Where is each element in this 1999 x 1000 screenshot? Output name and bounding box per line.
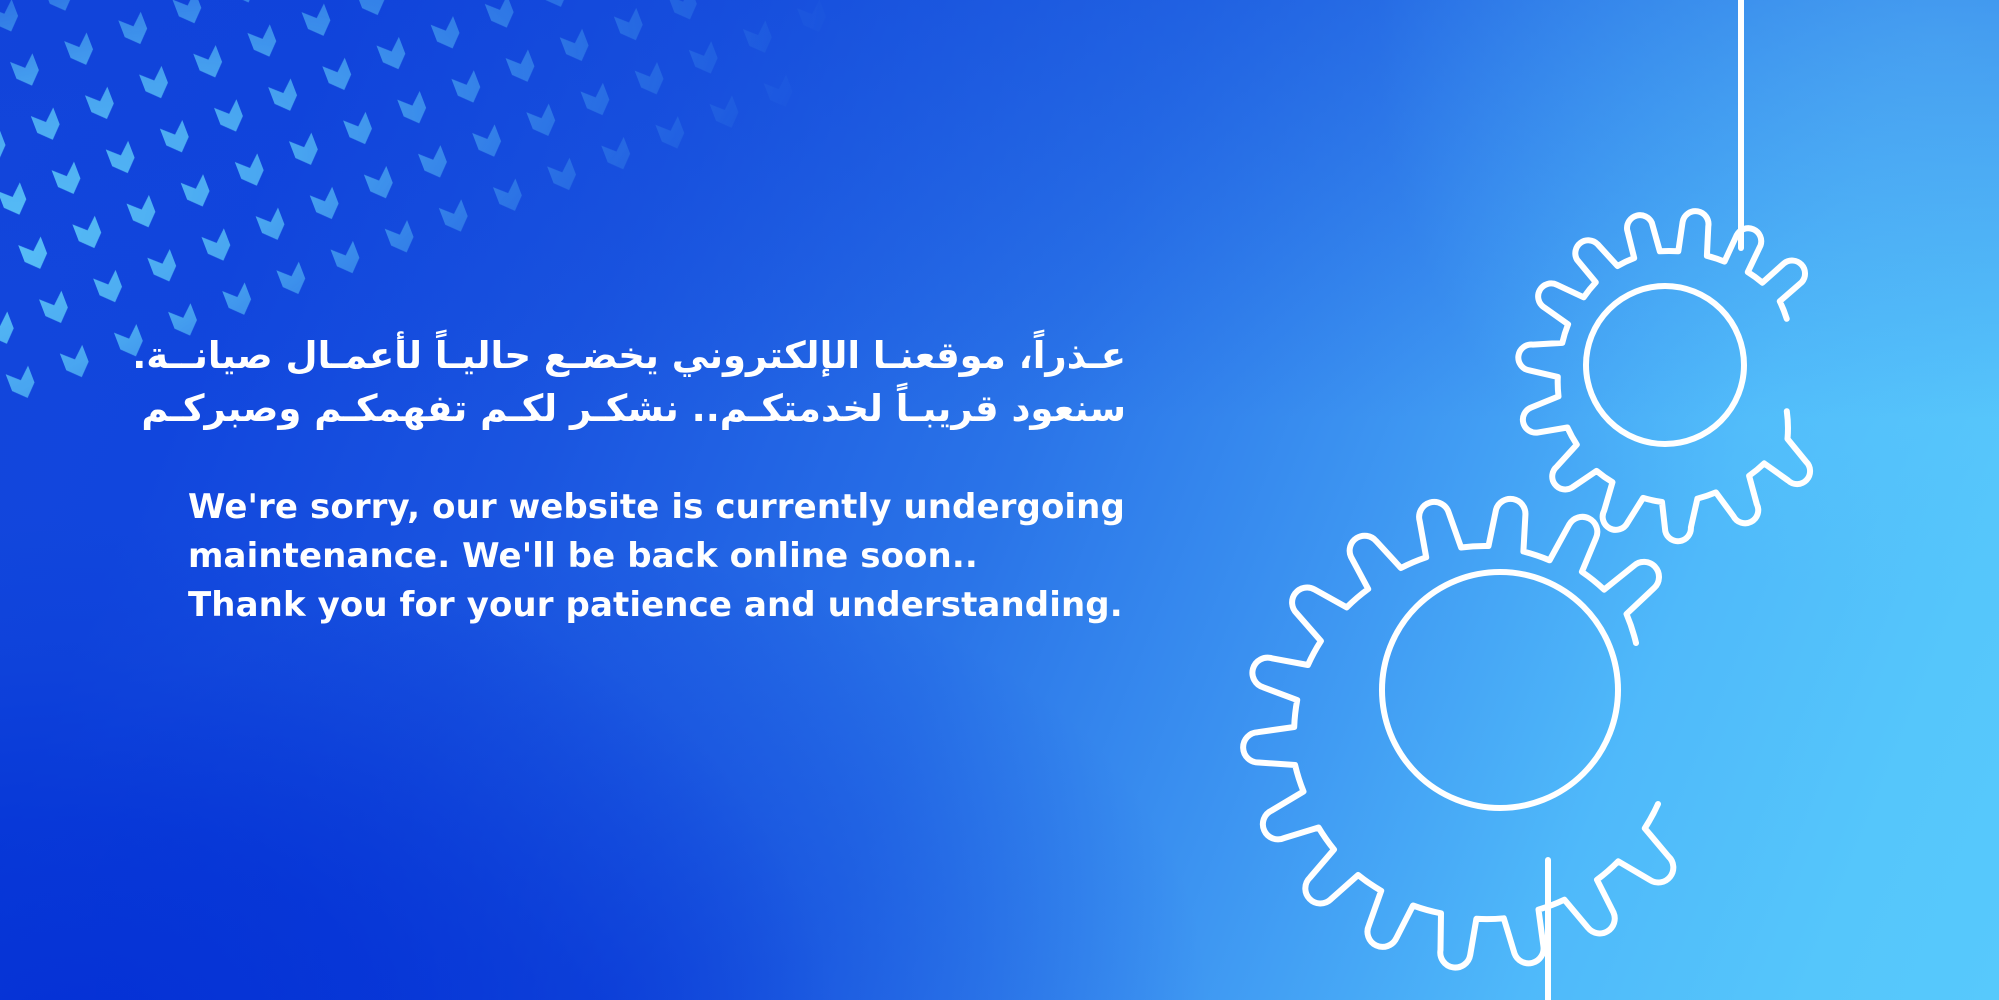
message-block: عـذراً، موقعنـا الإلكتروني يخضـع حاليـاً… <box>188 330 1148 630</box>
english-line-3: Thank you for your patience and understa… <box>188 581 1148 630</box>
maintenance-page: عـذراً، موقعنـا الإلكتروني يخضـع حاليـاً… <box>0 0 1999 1000</box>
english-line-1: We're sorry, our website is currently un… <box>188 483 1148 532</box>
arabic-line-1: عـذراً، موقعنـا الإلكتروني يخضـع حاليـاً… <box>188 330 1126 383</box>
arabic-line-2: سنعود قريبـاً لخدمتكـم.. نشكـر لكـم تفهم… <box>188 383 1126 436</box>
english-message: We're sorry, our website is currently un… <box>188 483 1148 630</box>
arabic-message: عـذراً، موقعنـا الإلكتروني يخضـع حاليـاً… <box>188 330 1126 435</box>
english-line-2: maintenance. We'll be back online soon.. <box>188 532 1148 581</box>
